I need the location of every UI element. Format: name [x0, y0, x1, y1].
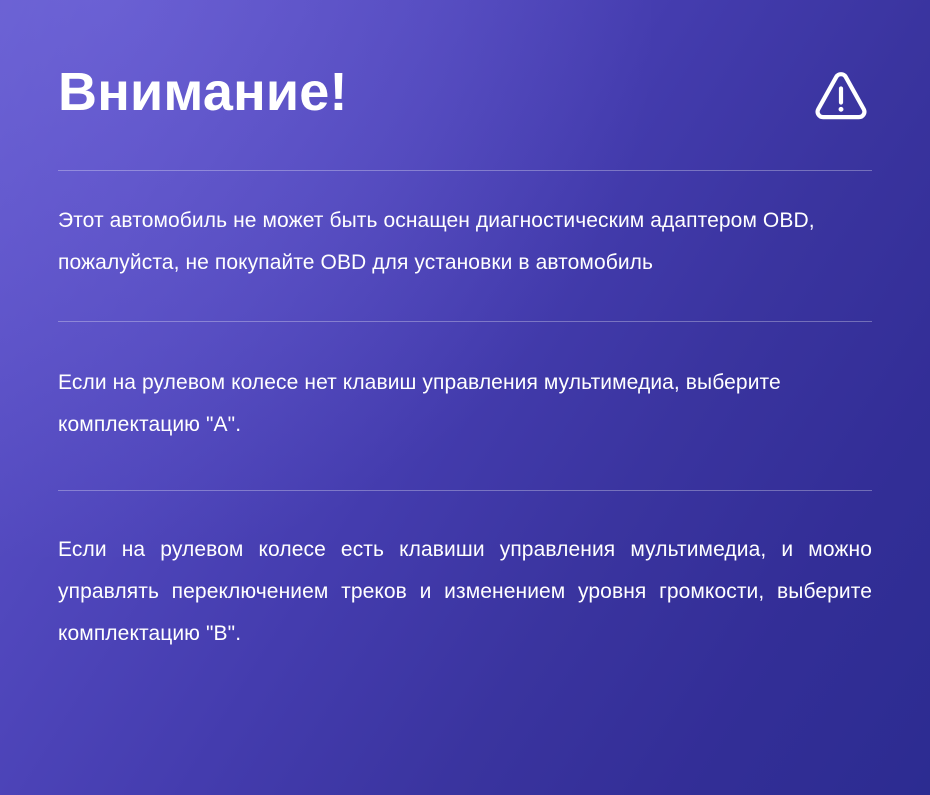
- banner-header: Внимание!: [58, 0, 872, 170]
- section-variant-a: Если на рулевом колесе нет клавиш управл…: [58, 322, 872, 490]
- section-variant-b: Если на рулевом колесе есть клавиши упра…: [58, 491, 872, 655]
- warning-triangle-icon: [812, 66, 870, 124]
- section-obd-warning: Этот автомобиль не может быть оснащен ди…: [58, 171, 872, 321]
- warning-banner: Внимание! Этот автомобиль не может быть …: [0, 0, 930, 795]
- section-text: Если на рулевом колесе нет клавиш управл…: [58, 362, 872, 446]
- section-text: Этот автомобиль не может быть оснащен ди…: [58, 200, 872, 284]
- banner-content: Внимание! Этот автомобиль не может быть …: [0, 0, 930, 655]
- section-text: Если на рулевом колесе есть клавиши упра…: [58, 529, 872, 655]
- page-title: Внимание!: [58, 51, 348, 119]
